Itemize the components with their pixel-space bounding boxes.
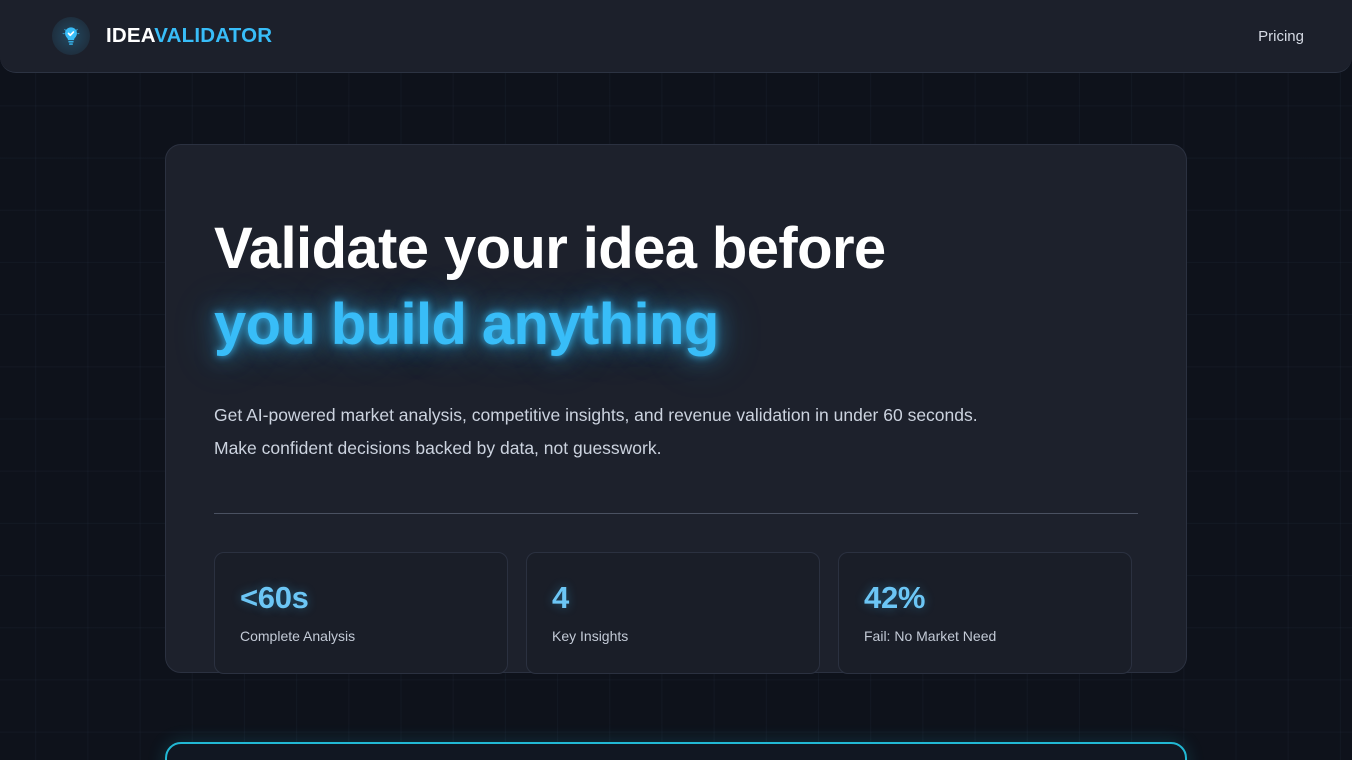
headline-line-1: Validate your idea before — [214, 211, 1138, 287]
landing-page: IDEAVALIDATOR Pricing Validate your idea… — [0, 0, 1352, 760]
stat-card-complete-analysis: <60s Complete Analysis — [214, 552, 508, 674]
hero-subheadline: Get AI-powered market analysis, competit… — [214, 399, 1004, 465]
lightbulb-check-icon — [52, 17, 90, 55]
brand-name: IDEAVALIDATOR — [106, 24, 272, 48]
hero-divider — [214, 513, 1138, 514]
brand-name-part1: IDEA — [106, 24, 154, 47]
stat-card-key-insights: 4 Key Insights — [526, 552, 820, 674]
brand-name-part2: VALIDATOR — [154, 24, 272, 47]
stat-label: Key Insights — [552, 628, 794, 644]
hero-stats-row: <60s Complete Analysis 4 Key Insights 42… — [214, 552, 1138, 674]
top-navbar: IDEAVALIDATOR Pricing — [0, 0, 1352, 73]
stat-card-fail-no-market-need: 42% Fail: No Market Need — [838, 552, 1132, 674]
page-title: Validate your idea before you build anyt… — [214, 211, 1138, 363]
nav-link-pricing[interactable]: Pricing — [1258, 28, 1304, 45]
stat-value: <60s — [240, 582, 482, 615]
brand-logo[interactable]: IDEAVALIDATOR — [52, 17, 272, 55]
idea-input-card[interactable] — [165, 742, 1187, 760]
stat-value: 4 — [552, 582, 794, 615]
stat-label: Fail: No Market Need — [864, 628, 1106, 644]
headline-line-2: you build anything — [214, 287, 1138, 363]
stat-value: 42% — [864, 582, 1106, 615]
hero-card: Validate your idea before you build anyt… — [165, 144, 1187, 673]
stat-label: Complete Analysis — [240, 628, 482, 644]
